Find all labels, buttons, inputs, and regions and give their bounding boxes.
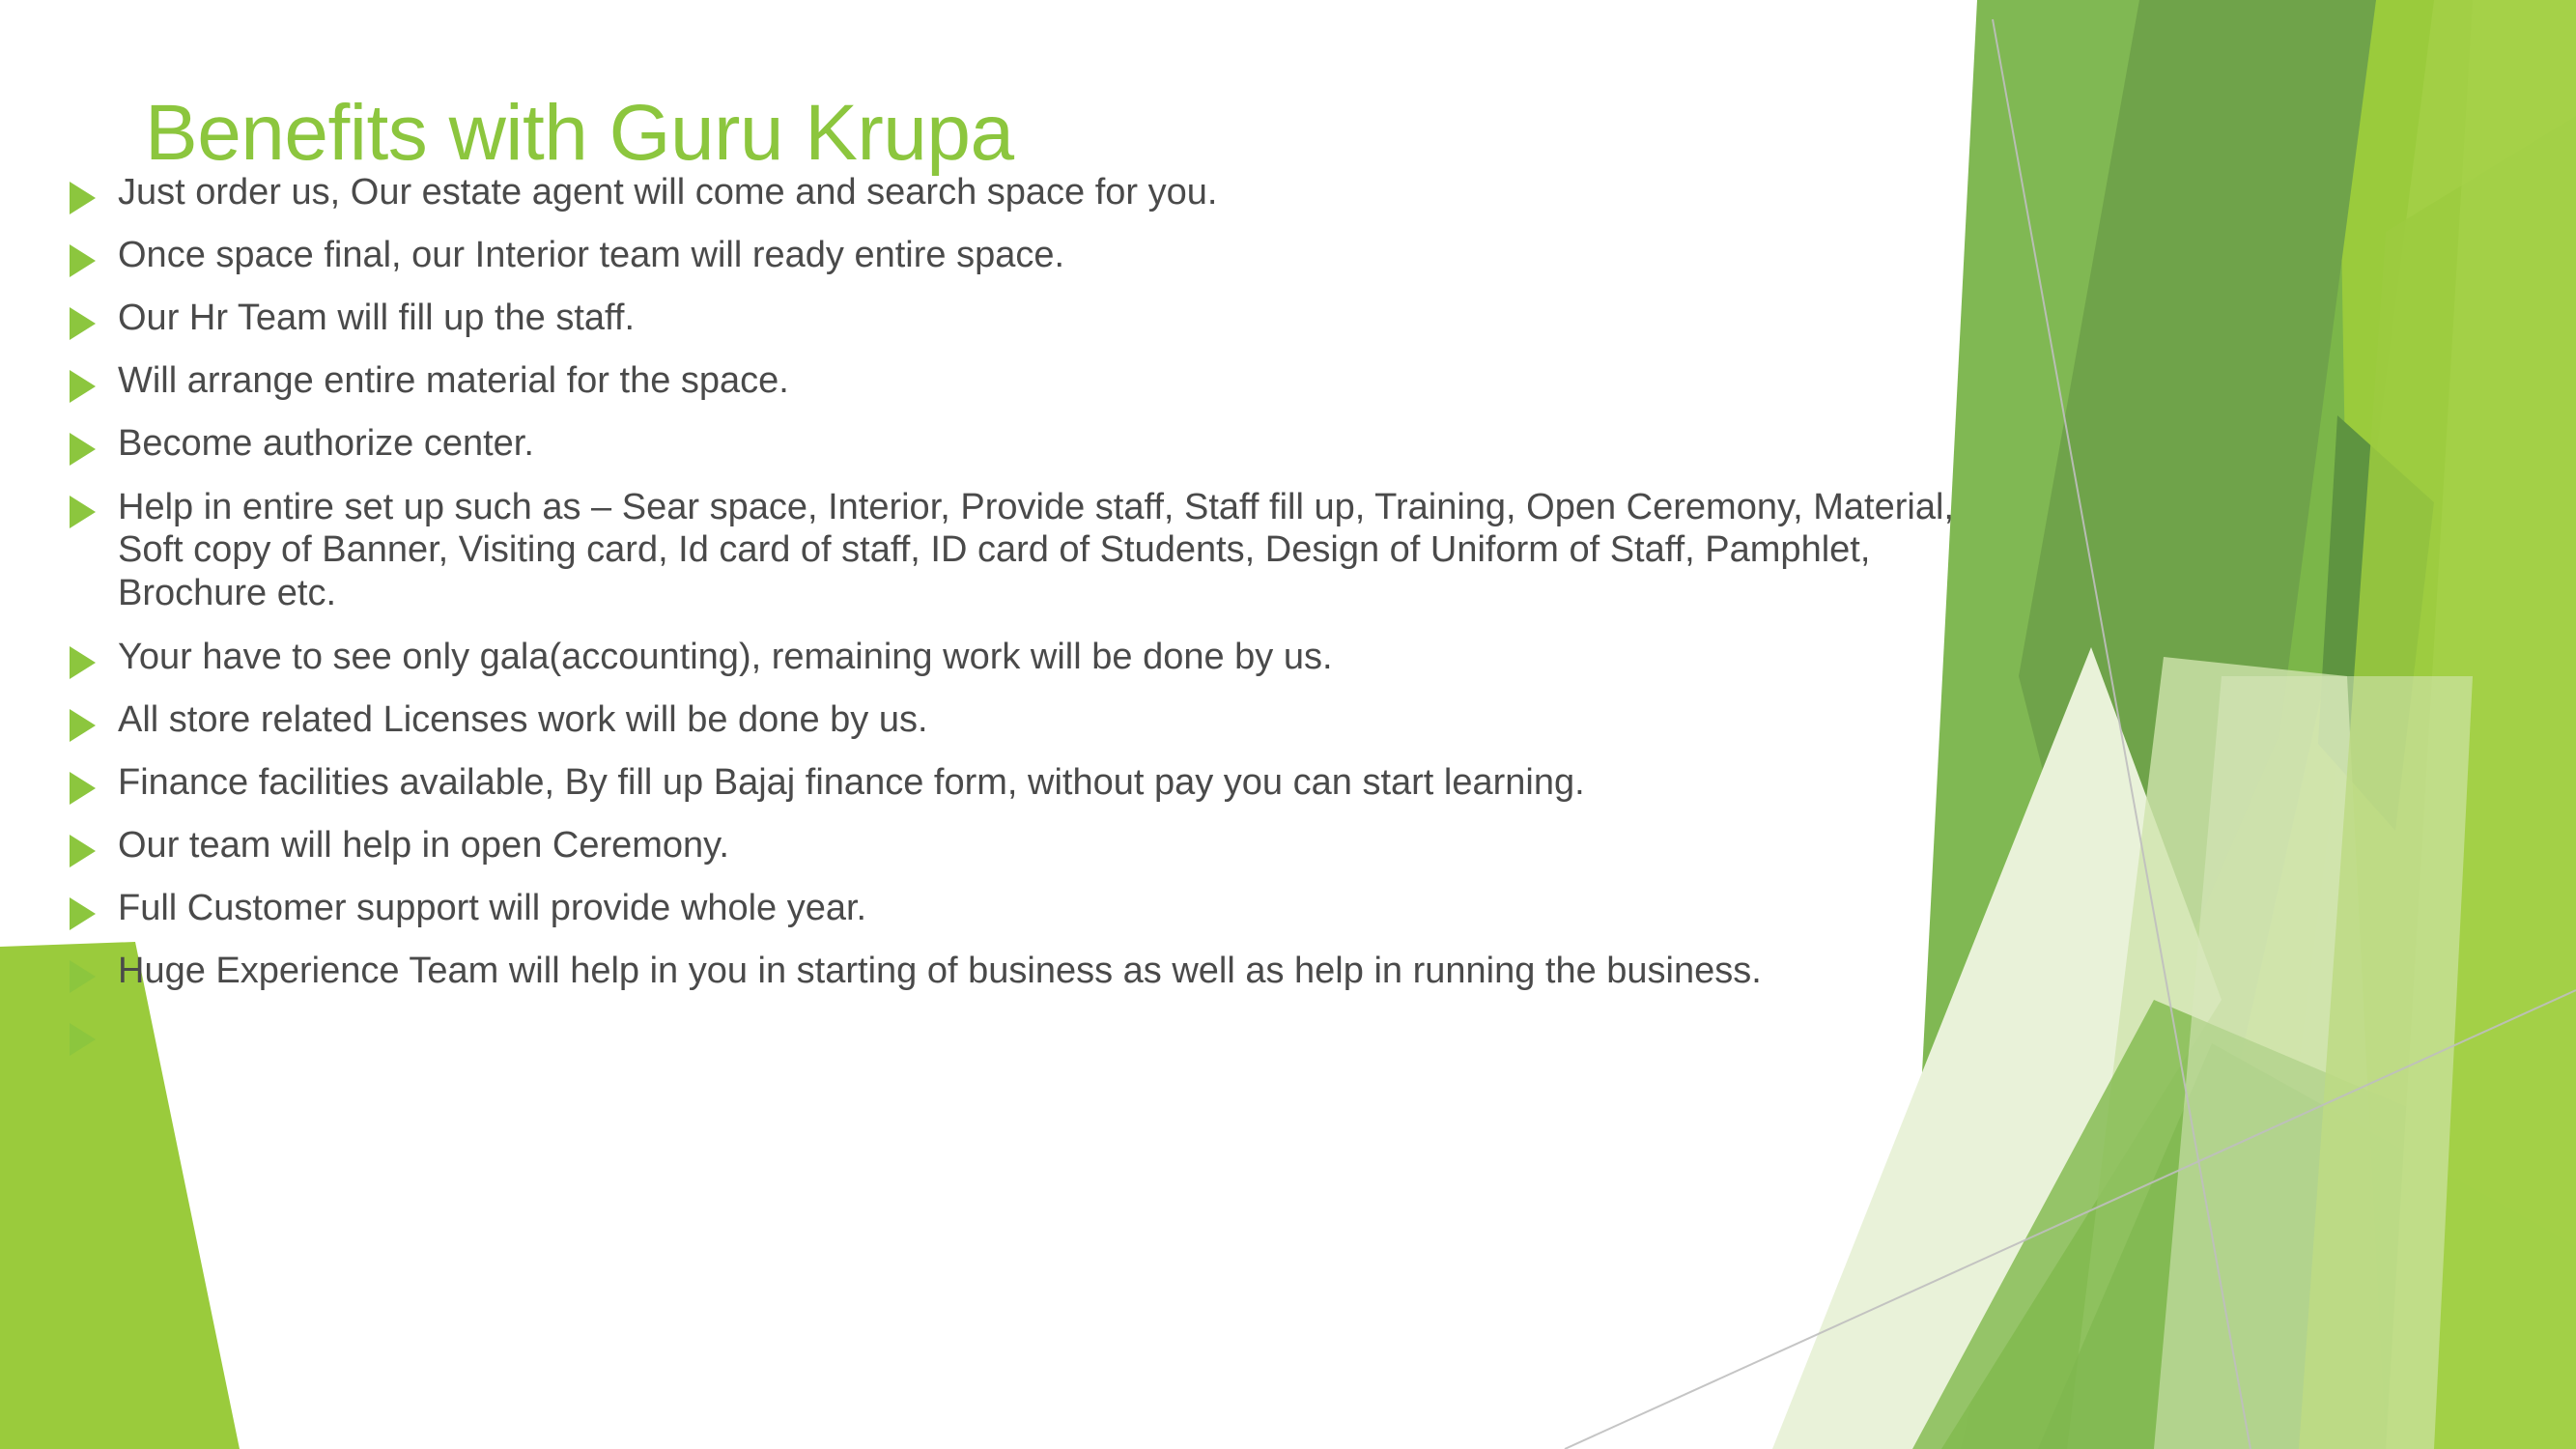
list-item-text: Become authorize center. bbox=[118, 423, 1999, 466]
right-bright-overlay-2 bbox=[2386, 0, 2576, 1449]
bullet-list: Just order us, Our estate agent will com… bbox=[58, 172, 1999, 1076]
list-item-text: Just order us, Our estate agent will com… bbox=[118, 172, 1999, 214]
right-bright-overlay bbox=[2299, 116, 2576, 1449]
list-item-text: All store related Licenses work will be … bbox=[118, 699, 1999, 742]
triangle-right-icon bbox=[58, 486, 118, 528]
pale-wedge-upper bbox=[2067, 657, 2386, 1449]
list-item-text: Your have to see only gala(accounting), … bbox=[118, 637, 1999, 679]
right-dark-panel bbox=[2019, 0, 2376, 1092]
triangle-right-icon bbox=[58, 298, 118, 340]
triangle-right-icon bbox=[58, 235, 118, 277]
right-base-bright bbox=[1961, 0, 2576, 1449]
list-item: Help in entire set up such as – Sear spa… bbox=[58, 486, 1999, 614]
pale-fan bbox=[2154, 676, 2473, 1449]
triangle-right-icon bbox=[58, 637, 118, 679]
triangle-right-icon bbox=[58, 951, 118, 993]
triangle-right-icon bbox=[58, 825, 118, 867]
list-item-text: Huge Experience Team will help in you in… bbox=[118, 951, 1999, 993]
list-item-text: Our Hr Team will fill up the staff. bbox=[118, 298, 1999, 340]
list-item-text: Our team will help in open Ceremony. bbox=[118, 825, 1999, 867]
triangle-right-icon bbox=[58, 423, 118, 466]
presentation-slide: Benefits with Guru Krupa Just order us, … bbox=[0, 0, 2576, 1449]
triangle-right-icon bbox=[58, 888, 118, 930]
list-item-text: Once space final, our Interior team will… bbox=[118, 235, 1999, 277]
hairline-diagonal-1 bbox=[1993, 19, 2250, 1449]
triangle-right-icon bbox=[58, 699, 118, 742]
list-item: Finance facilities available, By fill up… bbox=[58, 762, 1999, 805]
list-item-text: Full Customer support will provide whole… bbox=[118, 888, 1999, 930]
list-item: All store related Licenses work will be … bbox=[58, 699, 1999, 742]
slide-title: Benefits with Guru Krupa bbox=[145, 94, 1014, 173]
triangle-right-icon bbox=[58, 1013, 118, 1056]
list-item-text: Finance facilities available, By fill up… bbox=[118, 762, 1999, 805]
list-item: Huge Experience Team will help in you in… bbox=[58, 951, 1999, 993]
list-item: Become authorize center. bbox=[58, 423, 1999, 466]
triangle-right-icon bbox=[58, 172, 118, 214]
list-item-text: Help in entire set up such as – Sear spa… bbox=[118, 486, 1999, 614]
translucent-sweep bbox=[1912, 1000, 2576, 1449]
triangle-right-icon bbox=[58, 360, 118, 403]
list-item: Will arrange entire material for the spa… bbox=[58, 360, 1999, 403]
right-deep-accent bbox=[2318, 415, 2434, 831]
right-base-bright-2 bbox=[2250, 0, 2576, 1449]
list-item: Just order us, Our estate agent will com… bbox=[58, 172, 1999, 214]
list-item bbox=[58, 1013, 1999, 1056]
list-item: Once space final, our Interior team will… bbox=[58, 235, 1999, 277]
triangle-right-icon bbox=[58, 762, 118, 805]
translucent-sweep-2 bbox=[2038, 1043, 2576, 1449]
list-item: Our team will help in open Ceremony. bbox=[58, 825, 1999, 867]
list-item: Full Customer support will provide whole… bbox=[58, 888, 1999, 930]
list-item: Our Hr Team will fill up the staff. bbox=[58, 298, 1999, 340]
list-item-text: Will arrange entire material for the spa… bbox=[118, 360, 1999, 403]
list-item: Your have to see only gala(accounting), … bbox=[58, 637, 1999, 679]
